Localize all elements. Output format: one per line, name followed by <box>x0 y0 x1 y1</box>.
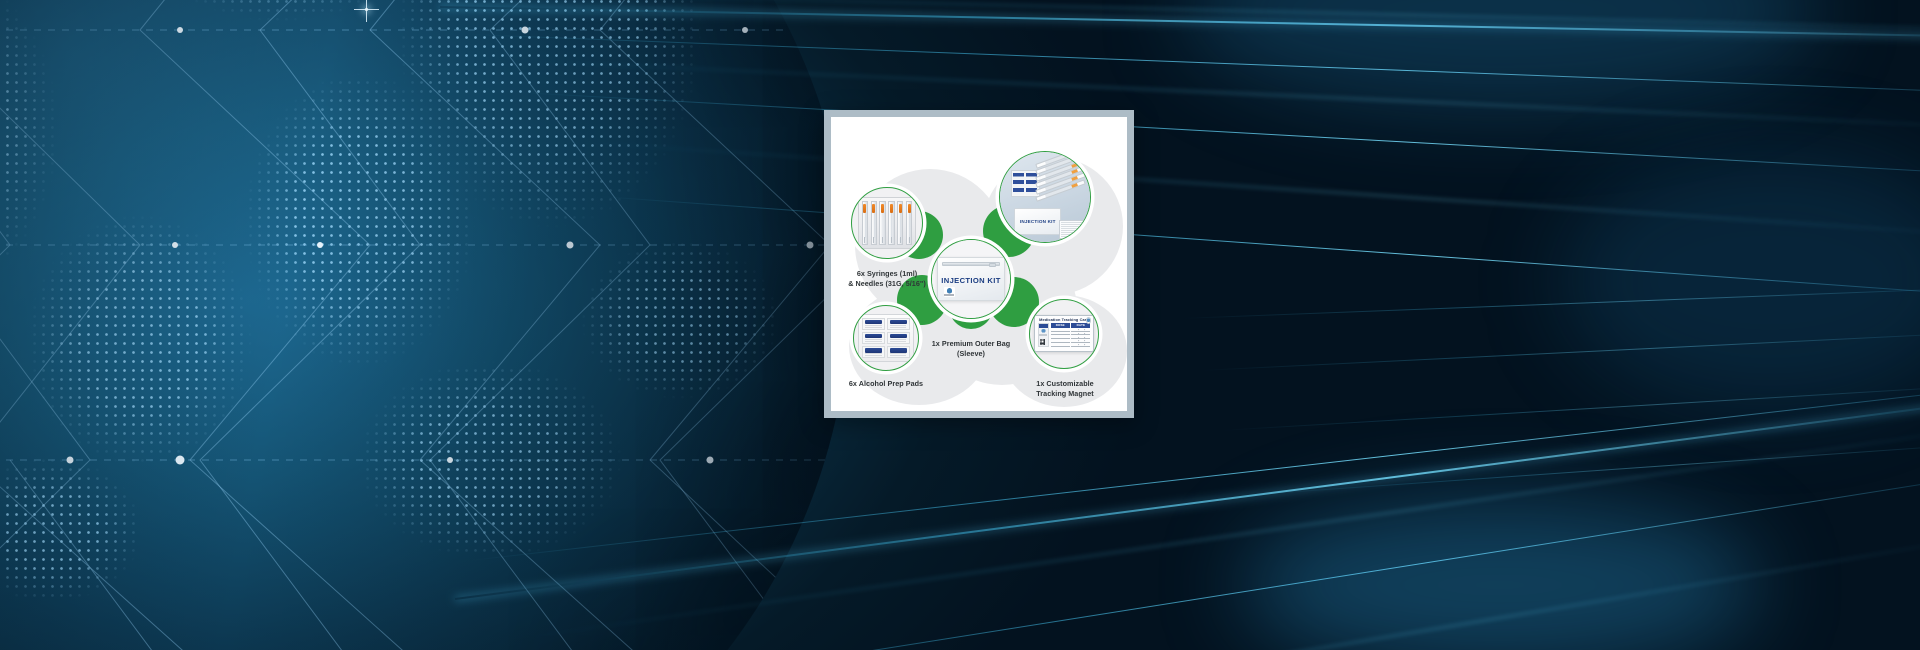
brand-logo-icon <box>944 287 955 296</box>
caption-tracking-magnet-line2: Tracking Magnet <box>1017 389 1113 399</box>
tracking-row <box>1051 340 1091 343</box>
caption-alcohol-pads: 6x Alcohol Prep Pads <box>836 379 936 389</box>
qr-code-icon <box>1040 339 1045 345</box>
hero-banner-background: 6x Syringes (1ml) & Needles (31G, 5/16") <box>0 0 1920 650</box>
tracking-card-rows <box>1051 328 1091 347</box>
tracking-row <box>1051 333 1091 336</box>
tracking-row <box>1051 336 1091 339</box>
syringe-tray <box>858 197 917 249</box>
tracking-row <box>1051 329 1091 332</box>
alcohol-pad-item <box>862 318 884 330</box>
alcohol-pad-sheet <box>858 314 913 363</box>
caption-outer-bag: 1x Premium Outer Bag (Sleeve) <box>909 339 1033 358</box>
kit-overview-scene: INJECTION KIT <box>1000 152 1090 242</box>
caption-syringes-line2: & Needles (31G, 5/16") <box>837 279 937 289</box>
caption-alcohol-pads-line1: 6x Alcohol Prep Pads <box>836 379 936 389</box>
syringe-item <box>862 201 868 245</box>
tracking-card-logo-icon <box>1086 317 1091 323</box>
outer-bag-photo: INJECTION KIT <box>932 240 1010 318</box>
kit-inner-bag: INJECTION KIT <box>1014 208 1061 235</box>
tracking-card-table: DOSE DATE <box>1051 323 1091 346</box>
caption-syringes: 6x Syringes (1ml) & Needles (31G, 5/16") <box>837 269 937 288</box>
caption-tracking-magnet: 1x Customizable Tracking Magnet <box>1017 379 1113 398</box>
syringe-item <box>897 201 903 245</box>
pouch-label: INJECTION KIT <box>938 276 1003 285</box>
injection-kit-pouch: INJECTION KIT <box>937 257 1004 301</box>
kit-syringe-fan <box>1036 163 1088 213</box>
alcohol-pad-item <box>887 332 909 344</box>
kit-inner-bag-label: INJECTION KIT <box>1020 219 1056 224</box>
kit-overview-photo: INJECTION KIT <box>1000 152 1090 242</box>
tracking-magnet-photo: Medication Tracking Card DOSE DATE <box>1030 300 1098 368</box>
node-syringes[interactable] <box>851 187 923 259</box>
caption-syringes-line1: 6x Syringes (1ml) <box>837 269 937 279</box>
medication-tracking-card: Medication Tracking Card DOSE DATE <box>1034 315 1094 352</box>
product-infographic-card[interactable]: 6x Syringes (1ml) & Needles (31G, 5/16") <box>824 110 1134 418</box>
syringe-item <box>871 201 877 245</box>
alcohol-pad-item <box>887 318 909 330</box>
syringe-item <box>888 201 894 245</box>
alcohol-pad-item <box>862 332 884 344</box>
kit-tracking-card-small <box>1059 220 1086 240</box>
alcohol-pads-photo <box>854 306 918 370</box>
tracking-card-body: DOSE DATE <box>1038 323 1091 346</box>
caption-tracking-magnet-line1: 1x Customizable <box>1017 379 1113 389</box>
alcohol-pad-item <box>887 346 909 358</box>
tracking-card-title: Medication Tracking Card <box>1038 318 1091 322</box>
node-outer-bag[interactable]: INJECTION KIT <box>931 239 1011 319</box>
node-tracking-magnet[interactable]: Medication Tracking Card DOSE DATE <box>1029 299 1099 369</box>
syringes-photo <box>852 188 922 258</box>
zip-slider-icon <box>942 262 1001 266</box>
syringe-item <box>906 201 912 245</box>
syringe-item <box>879 201 885 245</box>
node-kit-overview[interactable]: INJECTION KIT <box>999 151 1091 243</box>
caption-outer-bag-line1: 1x Premium Outer Bag <box>909 339 1033 349</box>
tracking-card-profile-panel <box>1038 323 1050 346</box>
tracking-row <box>1051 344 1091 347</box>
node-alcohol-pads[interactable] <box>853 305 919 371</box>
alcohol-pad-item <box>862 346 884 358</box>
caption-outer-bag-line2: (Sleeve) <box>909 349 1033 359</box>
product-card-canvas: 6x Syringes (1ml) & Needles (31G, 5/16") <box>831 117 1127 411</box>
